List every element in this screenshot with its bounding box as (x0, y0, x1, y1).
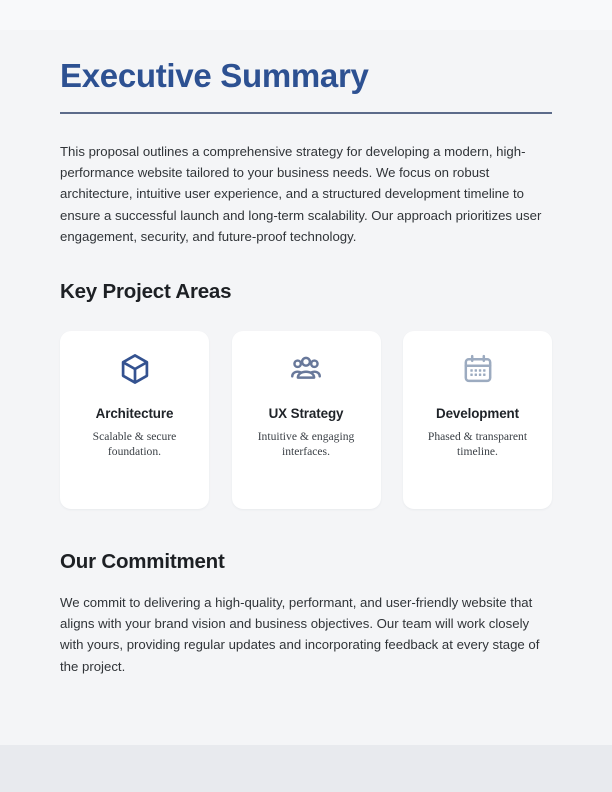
section-heading-key-project-areas: Key Project Areas (60, 280, 231, 304)
title-divider-rule (60, 112, 552, 114)
project-area-card-ux-strategy[interactable]: UX Strategy Intuitive & engaging interfa… (232, 331, 381, 509)
document-content: Executive Summary This proposal outlines… (60, 0, 552, 792)
project-area-card-description: Intuitive & engaging interfaces. (244, 430, 368, 459)
project-area-card-title: Development (436, 406, 519, 421)
commitment-paragraph: We commit to delivering a high-quality, … (60, 592, 552, 677)
key-project-areas-card-row: Architecture Scalable & secure foundatio… (60, 331, 552, 509)
project-area-card-architecture[interactable]: Architecture Scalable & secure foundatio… (60, 331, 209, 509)
intro-paragraph: This proposal outlines a comprehensive s… (60, 141, 552, 247)
users-group-icon (289, 352, 323, 386)
section-heading-our-commitment: Our Commitment (60, 550, 225, 574)
project-area-card-title: UX Strategy (269, 406, 344, 421)
project-area-card-description: Phased & transparent timeline. (416, 430, 540, 459)
project-area-card-description: Scalable & secure foundation. (73, 430, 197, 459)
project-area-card-title: Architecture (96, 406, 174, 421)
project-area-card-development[interactable]: Development Phased & transparent timelin… (403, 331, 552, 509)
calendar-icon (461, 352, 495, 386)
page-title: Executive Summary (60, 55, 369, 97)
cube-icon (118, 352, 152, 386)
